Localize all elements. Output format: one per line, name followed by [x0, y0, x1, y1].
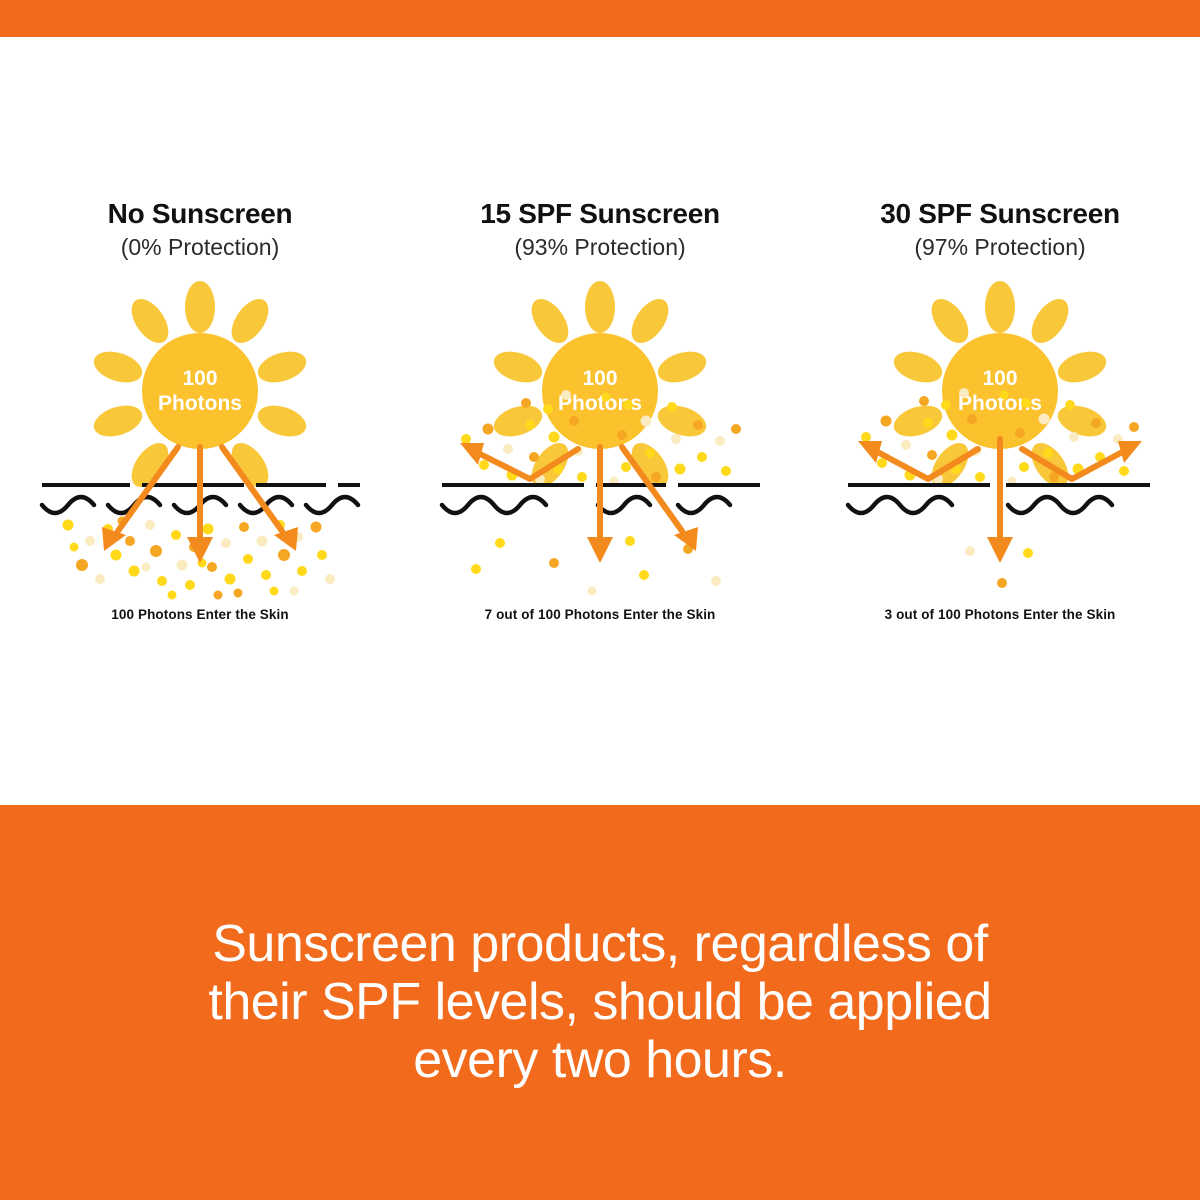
- banner-line-1: Sunscreen products, regardless of: [130, 915, 1070, 973]
- sun-label-count: 100: [582, 367, 617, 390]
- panel-title: 15 SPF Sunscreen: [480, 200, 720, 228]
- sun-body: [942, 333, 1058, 449]
- sun-body: [142, 333, 258, 449]
- panel-caption: 3 out of 100 Photons Enter the Skin: [885, 607, 1116, 622]
- panel-title: No Sunscreen: [108, 200, 293, 228]
- arrowhead-reflected-right: [1118, 441, 1142, 463]
- banner-line-2: their SPF levels, should be applied: [130, 973, 1070, 1031]
- sun-label-unit: Photons: [158, 392, 242, 415]
- panels-row: No Sunscreen (0% Protection): [0, 37, 1200, 805]
- panel-subtitle: (0% Protection): [121, 236, 280, 259]
- sun-label-count: 100: [182, 367, 217, 390]
- diagram-no-sunscreen: 100 Photons: [30, 279, 370, 599]
- panel-title: 30 SPF Sunscreen: [880, 200, 1120, 228]
- panel-caption: 7 out of 100 Photons Enter the Skin: [485, 607, 716, 622]
- panel-no-sunscreen: No Sunscreen (0% Protection): [0, 37, 400, 622]
- sun-label-count: 100: [982, 367, 1017, 390]
- diagram-spf-30: 100 Photons: [830, 279, 1170, 599]
- diagram-svg: 100 Photons: [30, 279, 370, 599]
- diagram-svg: 100 Photons: [430, 279, 770, 599]
- skin-wavy-line: [848, 497, 1112, 513]
- banner-message: Sunscreen products, regardless of their …: [0, 915, 1200, 1090]
- panel-caption: 100 Photons Enter the Skin: [111, 607, 288, 622]
- sun-body: [542, 333, 658, 449]
- panel-subtitle: (93% Protection): [514, 236, 685, 259]
- top-orange-band: [0, 0, 1200, 37]
- panel-spf-15: 15 SPF Sunscreen (93% Protection): [400, 37, 800, 622]
- panel-spf-30: 30 SPF Sunscreen (97% Protection): [800, 37, 1200, 622]
- diagram-svg: 100 Photons: [830, 279, 1170, 599]
- arrowhead-center: [587, 537, 613, 563]
- infographic-page: No Sunscreen (0% Protection): [0, 0, 1200, 1200]
- photon-arrows: [872, 439, 1128, 541]
- skin-wavy-line: [442, 497, 730, 513]
- panel-subtitle: (97% Protection): [914, 236, 1085, 259]
- banner-line-3: every two hours.: [130, 1031, 1070, 1089]
- diagram-spf-15: 100 Photons: [430, 279, 770, 599]
- arrowhead-center: [987, 537, 1013, 563]
